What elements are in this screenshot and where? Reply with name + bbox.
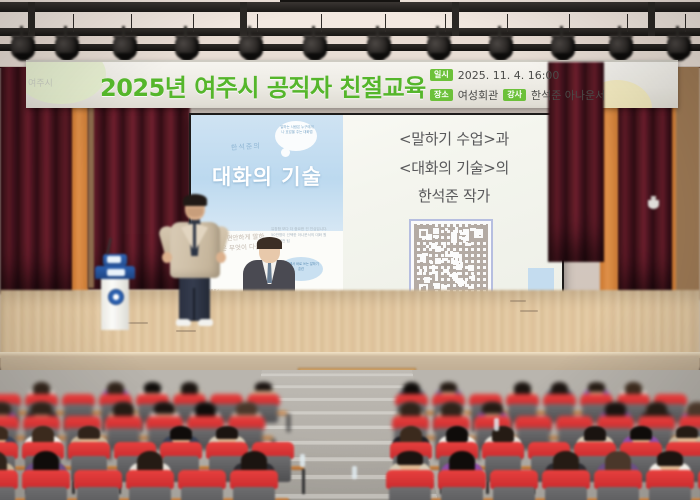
auditorium-seat <box>490 470 538 500</box>
light-cable <box>685 14 686 32</box>
stage-light-fixture <box>664 26 694 62</box>
auditorium-seat <box>594 470 642 500</box>
light-cable <box>385 14 386 32</box>
floor-tape-mark <box>510 300 526 302</box>
speaker-badge: 강사 <box>503 89 526 101</box>
side-wall-right <box>676 62 700 300</box>
water-bottle <box>300 454 305 467</box>
truss-bar-lower <box>0 44 700 51</box>
slide-accent-square <box>528 268 554 292</box>
venue-badge: 장소 <box>430 89 453 101</box>
stage-light-fixture <box>486 26 516 62</box>
banner-datetime-row: 일시 2025. 11. 4. 16:00 <box>430 65 605 85</box>
auditorium-seat <box>22 470 70 500</box>
stage-light-fixture <box>8 26 38 62</box>
slide-line-1: <말하기 수업>과 <box>354 125 554 154</box>
banner-title: 2025년 여주시 공직자 친절교육 <box>100 68 426 103</box>
stage-light-fixture <box>172 26 202 62</box>
light-cable <box>29 14 30 32</box>
speaker-value: 한석준 아나운서 <box>531 87 605 103</box>
event-banner: 여주시 2025년 여주시 공직자 친절교육 일시 2025. 11. 4. 1… <box>26 60 678 108</box>
slide-line-3: 한석준 작가 <box>354 182 554 211</box>
banner-meta: 일시 2025. 11. 4. 16:00 장소 여성회관 강사 한석준 아나운… <box>430 65 605 105</box>
auditorium-seat <box>230 470 278 500</box>
city-emblem-icon <box>108 289 124 305</box>
slide-line-2: <대화의 기술>의 <box>354 154 554 183</box>
light-cable <box>507 14 508 32</box>
stage-light-fixture <box>364 26 394 62</box>
presenter-person <box>162 196 226 328</box>
auditorium-seat <box>542 470 590 500</box>
stage-light-fixture <box>300 26 330 62</box>
podium-logo-band <box>107 269 125 276</box>
auditorium-seat <box>386 470 434 500</box>
stage-light-fixture <box>52 26 82 62</box>
datetime-badge: 일시 <box>430 69 453 81</box>
projection-screen: 말하는 사람은 누구에게나 호감을 주는 대화법 한석준의 대화의 기술 어디서… <box>189 113 564 299</box>
seat-row <box>0 370 700 500</box>
audience-area <box>0 370 700 500</box>
auditorium-seat <box>0 470 18 500</box>
book-author-photo <box>241 239 297 297</box>
security-camera-icon <box>648 196 659 209</box>
truss-bar-upper <box>0 2 700 12</box>
stage-light-fixture <box>110 26 140 62</box>
floor-tape-mark <box>520 310 538 312</box>
light-cable <box>193 14 194 32</box>
truss-bar-middle <box>0 28 700 36</box>
light-cable <box>569 14 570 32</box>
light-cable <box>627 14 628 32</box>
book-bubble-text: 말하는 사람은 누구에게나 호감을 주는 대화법 <box>279 125 315 135</box>
podium-logo-small <box>107 256 121 263</box>
auditorium-seat <box>74 470 122 500</box>
book-subtitle: 한석준의 <box>231 141 261 153</box>
auditorium-seat <box>438 470 486 500</box>
book-title: 대화의 기술 <box>199 161 335 191</box>
light-cable <box>321 14 322 32</box>
stage-light-fixture <box>606 26 636 62</box>
stage-light-fixture <box>424 26 454 62</box>
projected-slide: 말하는 사람은 누구에게나 호감을 주는 대화법 한석준의 대화의 기술 어디서… <box>191 115 562 297</box>
slide-headline: <말하기 수업>과 <대화의 기술>의 한석준 작가 <box>354 125 554 211</box>
venue-value: 여성회관 <box>458 87 498 103</box>
stage-light-fixture <box>236 26 266 62</box>
floor-tape-mark <box>176 330 196 332</box>
truss-post <box>648 2 655 36</box>
light-cable <box>73 14 74 32</box>
auditorium-seat <box>126 470 174 500</box>
auditorium-photo: 여주시 2025년 여주시 공직자 친절교육 일시 2025. 11. 4. 1… <box>0 0 700 500</box>
banner-venue-row: 장소 여성회관 강사 한석준 아나운서 <box>430 85 605 105</box>
light-cable <box>257 14 258 32</box>
light-cable <box>445 14 446 32</box>
qr-code-icon <box>409 219 493 297</box>
stage-light-fixture <box>548 26 578 62</box>
datetime-value: 2025. 11. 4. 16:00 <box>458 69 560 82</box>
auditorium-seat <box>178 470 226 500</box>
water-bottle <box>352 466 357 479</box>
water-bottle <box>494 418 499 431</box>
light-cable <box>131 14 132 32</box>
lectern-podium <box>95 252 135 330</box>
banner-corner-mark: 여주시 <box>28 76 53 89</box>
auditorium-seat <box>646 470 694 500</box>
